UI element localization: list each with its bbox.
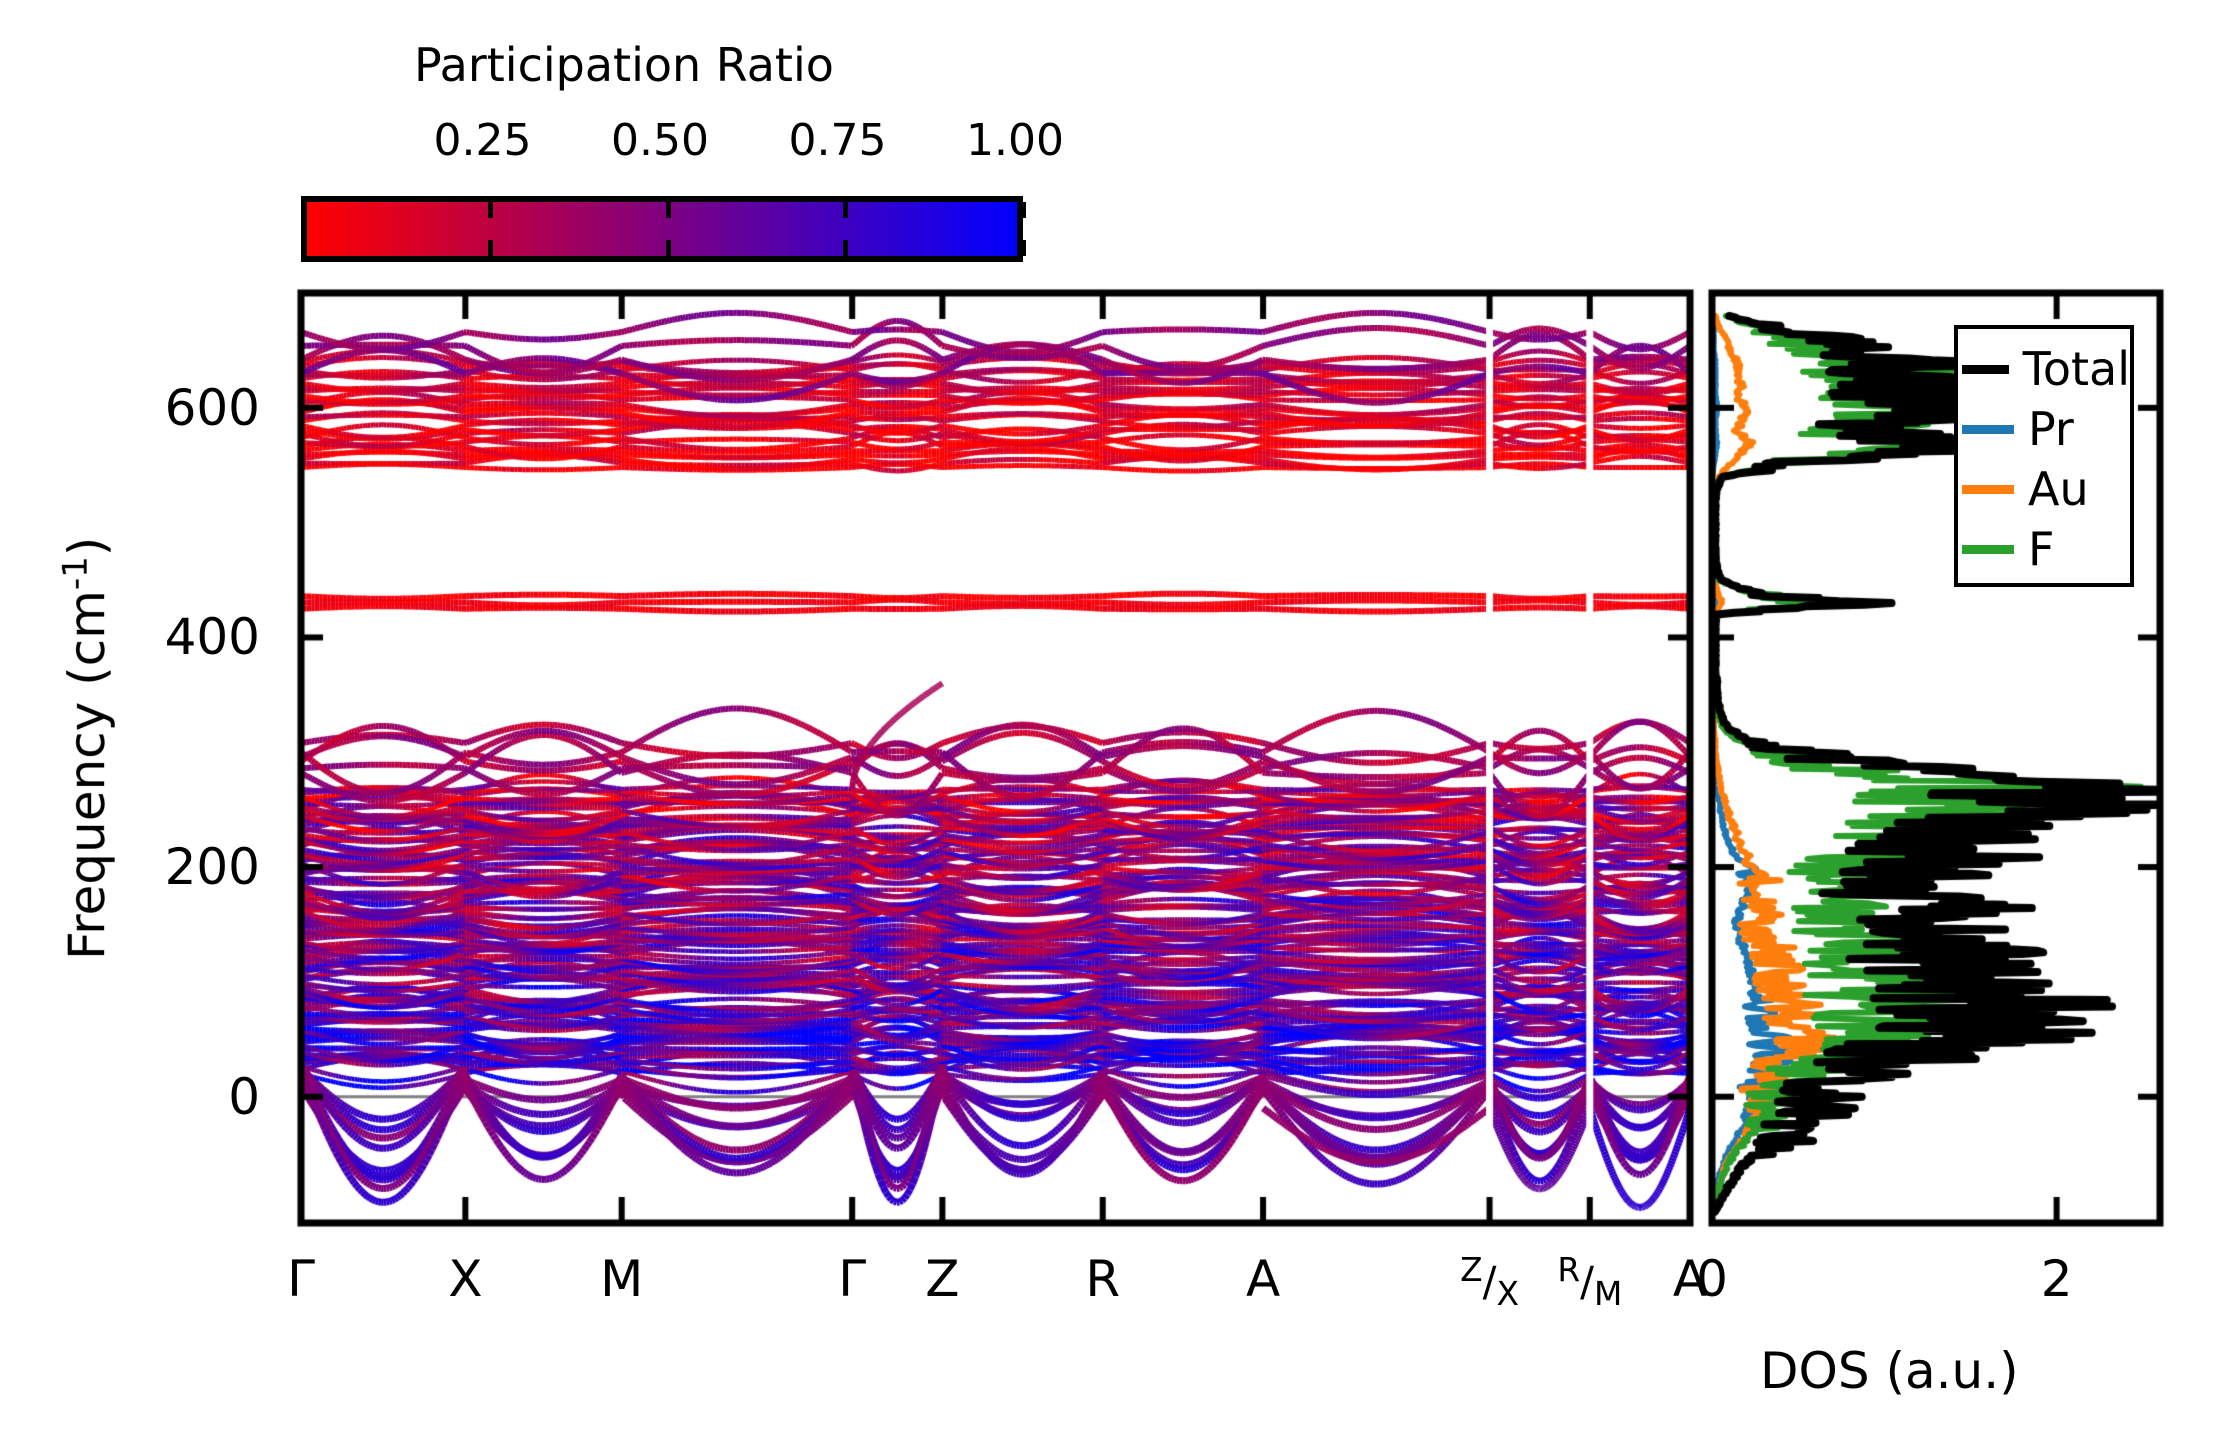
colorbar-title: Participation Ratio — [414, 38, 834, 92]
legend-entry: Au — [1958, 459, 2130, 519]
colorbar — [301, 196, 1023, 262]
legend-entry: Pr — [1958, 399, 2130, 459]
x-axis-tick-label: Γ — [838, 1250, 866, 1308]
colorbar-tick-mark — [666, 202, 671, 218]
colorbar-tick-label: 1.00 — [966, 115, 1064, 166]
x-axis-tick-label: A — [1246, 1250, 1280, 1308]
legend-label: F — [2028, 526, 2054, 572]
x-axis-tick-label: R/M — [1557, 1250, 1622, 1313]
legend-entry: F — [1958, 519, 2130, 579]
legend-line-swatch — [1962, 485, 2014, 494]
dos-x-axis-tick-label: 0 — [1696, 1250, 1728, 1308]
y-axis-label: Frequency (cm-1) — [56, 448, 117, 1048]
y-axis-tick-label: 600 — [60, 379, 260, 437]
y-axis-tick-label: 200 — [60, 838, 260, 896]
y-axis-tick-label: 0 — [60, 1068, 260, 1126]
legend-line-swatch — [1962, 365, 2009, 374]
x-axis-tick-label: X — [448, 1250, 482, 1308]
colorbar-tick-mark — [1021, 202, 1026, 218]
y-axis-tick-label: 400 — [60, 608, 260, 666]
dos-legend: TotalPrAuF — [1954, 325, 2134, 587]
x-axis-tick-label: Z — [925, 1250, 959, 1308]
x-axis-tick-label: Z/X — [1460, 1250, 1519, 1313]
colorbar-tick-labels: 0.250.500.751.00 — [300, 115, 1040, 165]
colorbar-tick-mark — [843, 202, 848, 218]
x-axis-tick-label: Γ — [287, 1250, 315, 1308]
legend-label: Total — [2023, 346, 2130, 392]
colorbar-gradient — [307, 202, 1017, 256]
dos-x-axis-label: DOS (a.u.) — [1760, 1342, 2019, 1400]
colorbar-tick-label: 0.25 — [434, 115, 532, 166]
y-axis-label-tail: ) — [58, 537, 116, 557]
legend-entry: Total — [1958, 339, 2130, 399]
dos-x-axis-tick-label: 2 — [2041, 1250, 2073, 1308]
legend-label: Pr — [2028, 406, 2074, 452]
legend-line-swatch — [1962, 545, 2014, 554]
colorbar-tick-mark — [488, 202, 493, 218]
colorbar-tick-mark — [1021, 240, 1026, 256]
colorbar-tick-mark — [666, 240, 671, 256]
y-axis-label-exponent: -1 — [56, 556, 96, 590]
figure-root: Participation Ratio 0.250.500.751.00 Fre… — [0, 0, 2222, 1455]
legend-line-swatch — [1962, 425, 2014, 434]
colorbar-tick-label: 0.75 — [789, 115, 887, 166]
x-axis-tick-label: M — [600, 1250, 643, 1308]
x-axis-tick-label: R — [1085, 1250, 1120, 1308]
colorbar-tick-label: 0.50 — [611, 115, 709, 166]
legend-label: Au — [2028, 466, 2089, 512]
colorbar-tick-mark — [843, 240, 848, 256]
colorbar-tick-mark — [488, 240, 493, 256]
